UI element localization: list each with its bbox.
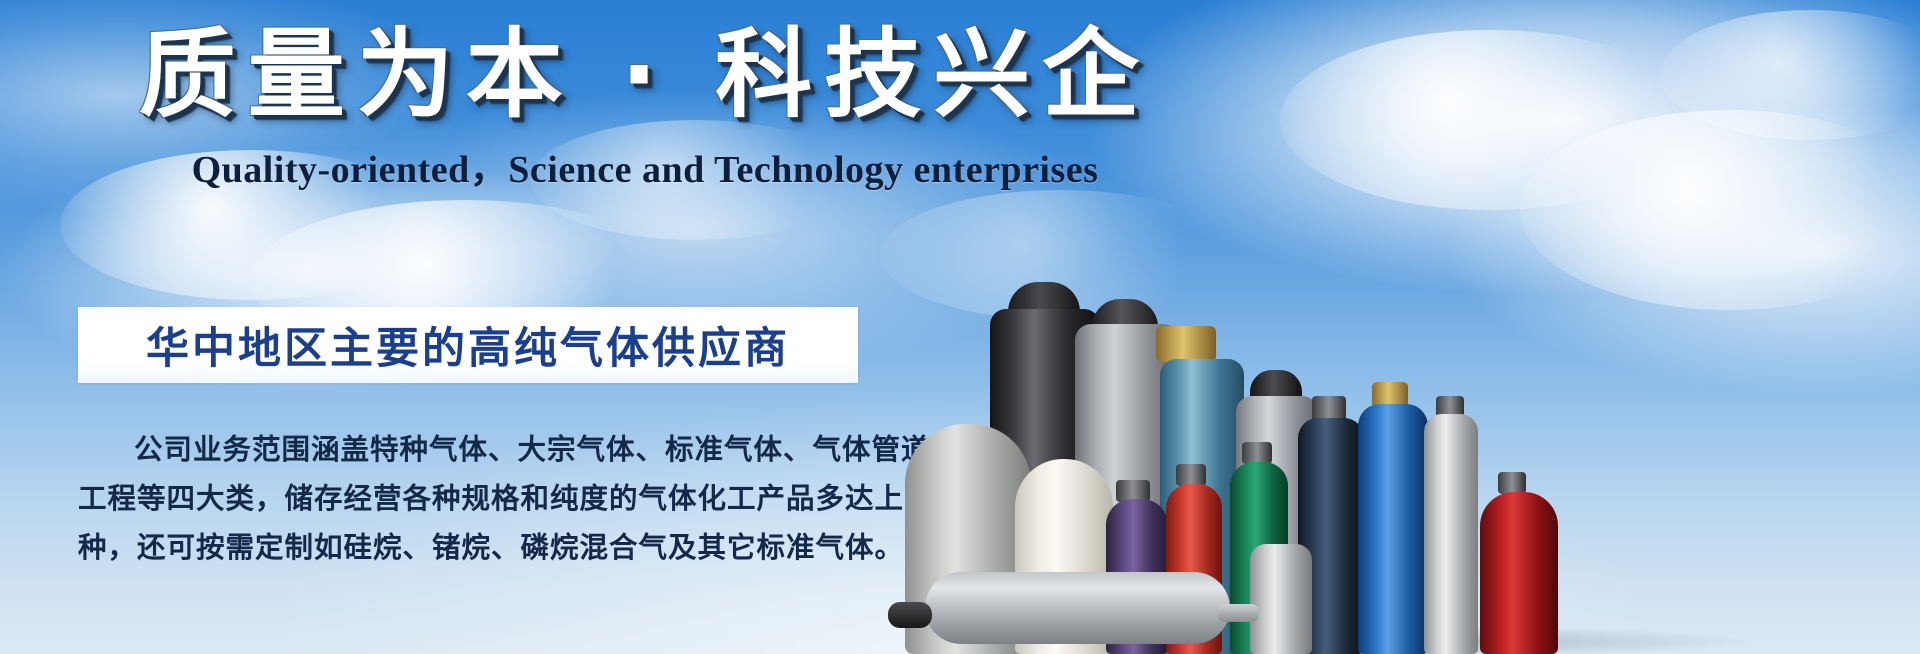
short-aluminium-cylinder: [1250, 544, 1312, 654]
green-small-cylinder-valve: [1242, 442, 1272, 464]
highlight-banner-box: 华中地区主要的高纯气体供应商: [78, 307, 858, 383]
aluminium-cylinder: [1424, 414, 1478, 654]
description-line: 工程等四大类，储存经营各种规格和纯度的气体化工产品多达上百: [78, 474, 868, 523]
horizontal-cylinder-neck: [1218, 604, 1258, 622]
horizontal-grey-cylinder: [925, 572, 1230, 644]
deep-red-cylinder-valve: [1498, 472, 1526, 494]
company-description: 公司业务范围涵盖特种气体、大宗气体、标准气体、气体管道 工程等四大类，储存经营各…: [78, 425, 868, 572]
horizontal-cylinder-valve: [888, 602, 932, 628]
highlight-banner-text: 华中地区主要的高纯气体供应商: [146, 314, 790, 376]
red-small-cylinder-valve: [1176, 464, 1206, 486]
promo-banner: 质量为本 · 科技兴企 Quality-oriented，Science and…: [0, 0, 1920, 654]
page-title: 质量为本 · 科技兴企: [0, 22, 1290, 129]
page-subtitle: Quality-oriented，Science and Technology …: [0, 138, 1290, 193]
description-line: 公司业务范围涵盖特种气体、大宗气体、标准气体、气体管道: [78, 425, 868, 474]
gas-cylinder-group: [920, 234, 1920, 654]
cloud-puff-icon: [1280, 30, 1700, 210]
teal-blue-cylinder-valve: [1156, 326, 1216, 362]
deep-red-cylinder: [1480, 492, 1558, 654]
blue-cylinder: [1358, 404, 1428, 654]
cloud-puff-icon: [1660, 10, 1920, 140]
description-line: 种，还可按需定制如硅烷、锗烷、磷烷混合气及其它标准气体。: [78, 523, 868, 572]
